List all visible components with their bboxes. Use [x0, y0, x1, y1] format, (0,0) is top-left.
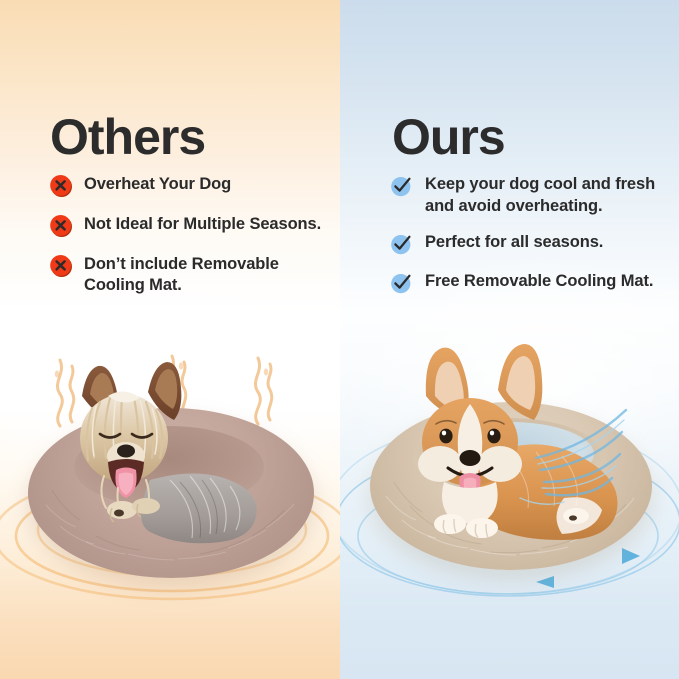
list-item: Free Removable Cooling Mat. — [389, 270, 669, 296]
list-item: Don’t include Removable Cooling Mat. — [48, 253, 334, 297]
list-item-label: Don’t include Removable Cooling Mat. — [84, 253, 334, 297]
list-item: Keep your dog cool and fresh and avoid o… — [389, 173, 669, 218]
check-circle-icon — [389, 270, 415, 296]
comparison-graphic: Others Overheat Your Dog — [0, 0, 679, 679]
list-item-label: Keep your dog cool and fresh and avoid o… — [425, 173, 669, 218]
cool-air-streaks-icon — [340, 330, 679, 679]
yorkshire-terrier-illustration — [0, 330, 340, 679]
cross-circle-icon — [48, 213, 74, 239]
list-item: Perfect for all seasons. — [389, 231, 669, 257]
right-panel-bullet-list: Keep your dog cool and fresh and avoid o… — [389, 173, 669, 309]
cross-circle-icon — [48, 173, 74, 199]
right-panel-heading: Ours — [392, 112, 505, 162]
overheating-dog-bed-scene — [0, 330, 340, 679]
list-item-label: Free Removable Cooling Mat. — [425, 270, 653, 293]
cooling-dog-bed-scene — [340, 330, 679, 679]
cross-circle-icon — [48, 253, 74, 279]
left-panel-heading: Others — [50, 112, 205, 162]
list-item: Not Ideal for Multiple Seasons. — [48, 213, 334, 239]
check-circle-icon — [389, 173, 415, 199]
check-circle-icon — [389, 231, 415, 257]
list-item-label: Perfect for all seasons. — [425, 231, 603, 254]
list-item-label: Overheat Your Dog — [84, 173, 231, 195]
left-panel-bullet-list: Overheat Your Dog Not Ideal for Multiple… — [48, 173, 334, 297]
list-item-label: Not Ideal for Multiple Seasons. — [84, 213, 321, 235]
list-item: Overheat Your Dog — [48, 173, 334, 199]
